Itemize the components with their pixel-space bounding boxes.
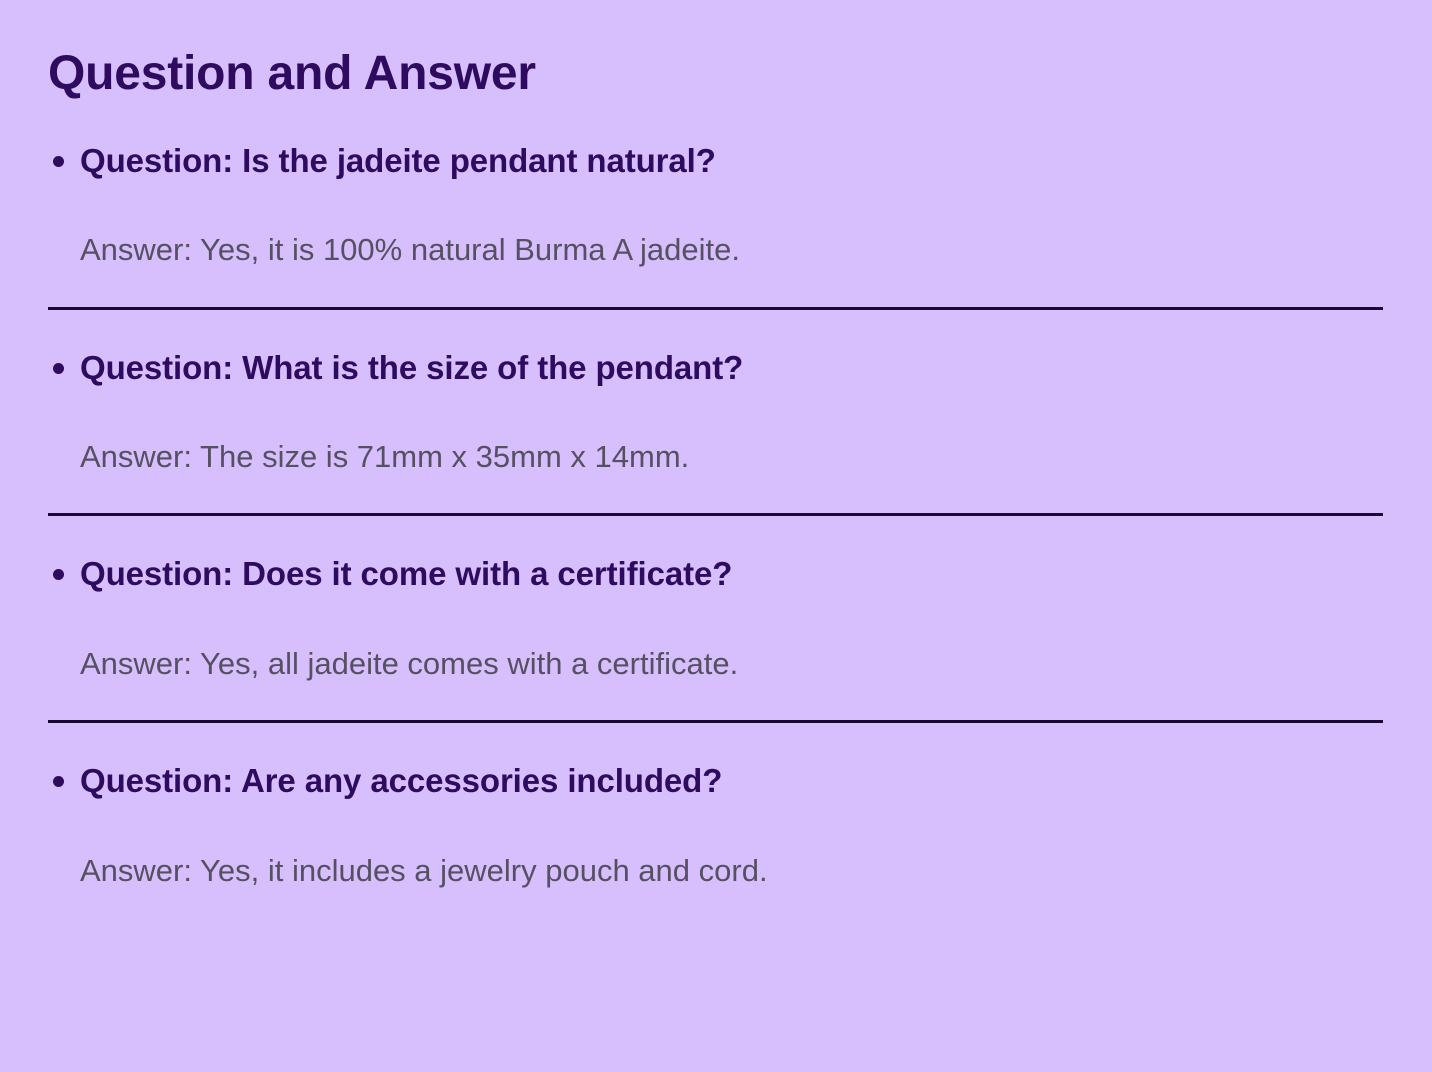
qa-question-text: Question: What is the size of the pendan…: [80, 349, 743, 386]
qa-item: Question: Is the jadeite pendant natural…: [48, 139, 1384, 310]
qa-divider: [48, 720, 1383, 723]
qa-item: Question: Are any accessories included? …: [48, 759, 1384, 891]
qa-answer: Answer: Yes, it is 100% natural Burma A …: [48, 230, 1384, 270]
qa-question: Question: Does it come with a certificat…: [48, 552, 1384, 596]
qa-answer: Answer: Yes, it includes a jewelry pouch…: [48, 851, 1384, 891]
bullet-icon: [53, 363, 64, 374]
qa-question-text: Question: Is the jadeite pendant natural…: [80, 142, 716, 179]
qa-answer: Answer: The size is 71mm x 35mm x 14mm.: [48, 437, 1384, 477]
qa-item: Question: What is the size of the pendan…: [48, 346, 1384, 517]
bullet-icon: [53, 776, 64, 787]
qa-list: Question: Is the jadeite pendant natural…: [48, 139, 1384, 891]
bullet-icon: [53, 156, 64, 167]
bullet-icon: [53, 569, 64, 580]
qa-question: Question: Are any accessories included?: [48, 759, 1384, 803]
qa-divider: [48, 307, 1383, 310]
page-title: Question and Answer: [48, 0, 1384, 101]
qa-divider: [48, 513, 1383, 516]
qa-question-text: Question: Does it come with a certificat…: [80, 555, 732, 592]
qa-question-text: Question: Are any accessories included?: [80, 762, 722, 799]
qa-page: Question and Answer Question: Is the jad…: [0, 0, 1432, 1072]
qa-question: Question: Is the jadeite pendant natural…: [48, 139, 1384, 183]
qa-item: Question: Does it come with a certificat…: [48, 552, 1384, 723]
qa-question: Question: What is the size of the pendan…: [48, 346, 1384, 390]
qa-answer: Answer: Yes, all jadeite comes with a ce…: [48, 644, 1384, 684]
